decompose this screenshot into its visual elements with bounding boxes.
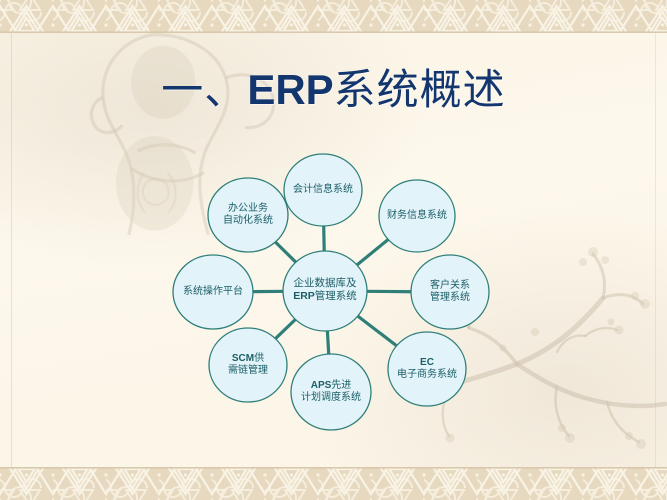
figure-watermark-icon: [88, 22, 303, 237]
title-suffix: 系统概述: [334, 68, 506, 114]
presentation-slide: 一、ERP系统概述 企业数据库及ERP管理系统会计信息系统办公业务自动化系统财务…: [0, 0, 667, 500]
top-decorative-border: [0, 0, 667, 33]
bottom-decorative-border: [0, 467, 667, 500]
page-title: 一、ERP系统概述: [0, 56, 667, 117]
title-prefix: 一、: [161, 68, 247, 114]
plum-branch-watermark-icon: [407, 236, 667, 466]
title-latin: ERP: [247, 66, 333, 113]
